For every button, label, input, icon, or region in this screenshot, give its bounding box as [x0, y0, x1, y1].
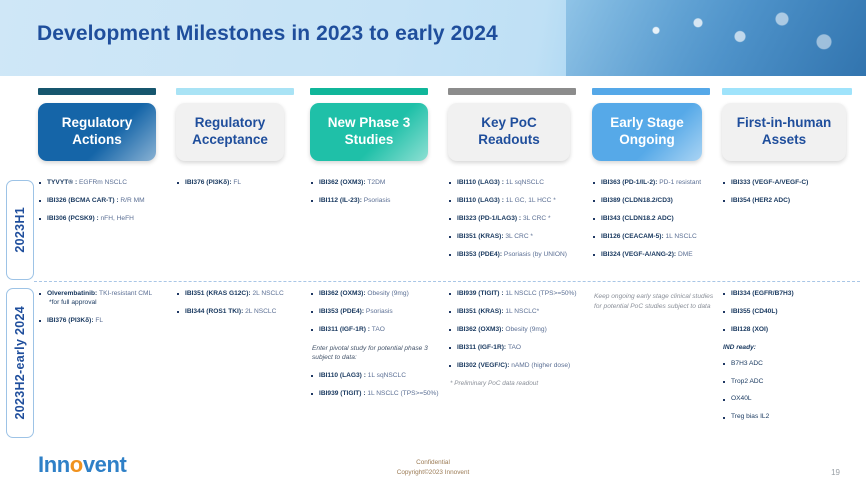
column-title-line1: Regulatory: [62, 115, 133, 132]
milestone-code: IBI351 (KRAS): [457, 233, 501, 240]
cell-2023h2-first-in-human-assets: IBI334 (EGFR/B7H3)IBI355 (CD40L)IBI128 (…: [722, 290, 860, 431]
row-label-text: 2023H2-early 2024: [13, 306, 27, 420]
milestone-item: IBI344 (ROS1 TKI): 2L NSCLC: [176, 308, 304, 317]
milestone-item: IBI353 (PDE4): Psoriasis (by UNION): [448, 251, 590, 260]
column-header-3[interactable]: Key PoCReadouts: [448, 88, 576, 161]
milestone-code: B7H3 ADC: [731, 360, 763, 367]
column-accent-bar: [310, 88, 428, 95]
milestone-indication: 1L GC, 1L HCC *: [506, 197, 556, 204]
milestone-item: IBI362 (OXM3): Obesity (9mg): [310, 290, 444, 299]
column-title-line1: Key PoC: [478, 115, 540, 132]
milestone-item: IBI351 (KRAS): 1L NSCLC*: [448, 308, 590, 317]
milestone-item: IBI351 (KRAS): 3L CRC *: [448, 233, 590, 242]
early-stage-ongoing-note: Keep ongoing early stage clinical studie…: [594, 292, 716, 311]
milestone-indication: Obesity (9mg): [505, 326, 546, 333]
milestone-indication: TKI-resistant CML: [99, 290, 152, 297]
milestone-code: IBI110 (LAG3): [319, 372, 362, 379]
milestone-indication: TAO: [372, 326, 385, 333]
milestone-item: IBI343 (CLDN18.2 ADC): [592, 215, 718, 224]
milestone-code: IBI334 (EGFR/B7H3): [731, 290, 794, 297]
milestone-indication: Psoriasis: [366, 308, 393, 315]
milestone-item: IBI376 (PI3Kδ): FL: [38, 317, 168, 326]
milestone-code: IBI324 (VEGF-A/ANG-2): [601, 251, 674, 258]
milestone-item: IBI306 (PCSK9) : nFH, HeFH: [38, 215, 166, 224]
column-accent-bar: [722, 88, 852, 95]
cell-2023h1-regulatory-actions: TYVYT® : EGFRm NSCLCIBI326 (BCMA CAR-T) …: [38, 179, 166, 233]
milestone-item: IBI302 (VEGF/C): nAMD (higher dose): [448, 362, 590, 371]
pivotal-study-note: Enter pivotal study for potential phase …: [312, 344, 444, 363]
milestone-code: IBI351 (KRAS G12C): [185, 290, 248, 297]
milestone-code: IBI389 (CLDN18.2/CD3): [601, 197, 673, 204]
column-accent-bar: [592, 88, 710, 95]
column-chip[interactable]: First-in-humanAssets: [722, 103, 846, 161]
column-title-line1: Regulatory: [192, 115, 268, 132]
column-accent-bar: [176, 88, 294, 95]
footer-copyright: Copyright©2023 Innovent: [0, 468, 866, 478]
milestone-code: IBI323 (PD-1/LAG3): [457, 215, 517, 222]
milestone-item: IBI351 (KRAS G12C): 2L NSCLC: [176, 290, 304, 299]
column-chip[interactable]: New Phase 3Studies: [310, 103, 428, 161]
milestone-code: IBI351 (KRAS): [457, 308, 501, 315]
column-title-line1: New Phase 3: [328, 115, 411, 132]
column-header-2[interactable]: New Phase 3Studies: [310, 88, 428, 161]
column-header-5[interactable]: First-in-humanAssets: [722, 88, 852, 161]
row-label-2023h2-early-2024: 2023H2-early 2024: [6, 288, 34, 438]
cell-2023h2-new-phase-3-studies: IBI362 (OXM3): Obesity (9mg)IBI353 (PDE4…: [310, 290, 444, 408]
milestone-code: IBI110 (LAG3): [457, 179, 500, 186]
milestone-item: IBI128 (XOI): [722, 326, 860, 335]
milestone-indication: 1L sqNSCLC: [368, 372, 406, 379]
milestone-code: IBI302 (VEGF/C): [457, 362, 507, 369]
milestone-item: IBI333 (VEGF-A/VEGF-C): [722, 179, 860, 188]
milestone-item: IBI939 (TIGIT) : 1L NSCLC (TPS>=50%): [448, 290, 590, 299]
milestone-item: Olverembatinib: TKI-resistant CML*for fu…: [38, 290, 168, 308]
milestone-code: TYVYT®: [47, 179, 73, 186]
milestone-item: IBI939 (TIGIT) : 1L NSCLC (TPS>=50%): [310, 390, 444, 399]
cell-2023h1-early-stage-ongoing: IBI363 (PD-1/IL-2): PD-1 resistantIBI389…: [592, 179, 718, 268]
milestone-item: IBI389 (CLDN18.2/CD3): [592, 197, 718, 206]
milestone-indication: TAO: [508, 344, 521, 351]
milestone-indication: 1L NSCLC (TPS>=50%): [505, 290, 576, 297]
milestone-item: IBI110 (LAG3) : 1L sqNSCLC: [310, 372, 444, 381]
milestone-item: IBI311 (IGF-1R) : TAO: [310, 326, 444, 335]
milestone-code: Treg bias IL2: [731, 413, 769, 420]
milestone-item: IBI362 (OXM3): T2DM: [310, 179, 440, 188]
milestone-code: IBI306 (PCSK9): [47, 215, 95, 222]
column-header-0[interactable]: RegulatoryActions: [38, 88, 156, 161]
milestone-item: IBI311 (IGF-1R): TAO: [448, 344, 590, 353]
milestone-item: IBI355 (CD40L): [722, 308, 860, 317]
milestone-indication: DME: [678, 251, 693, 258]
milestone-indication: 1L NSCLC (TPS>=50%): [367, 390, 438, 397]
milestone-indication: 2L NSCLC: [252, 290, 283, 297]
row-divider: [34, 281, 860, 282]
milestone-item: Treg bias IL2: [722, 413, 860, 422]
milestone-item: IBI363 (PD-1/IL-2): PD-1 resistant: [592, 179, 718, 188]
milestone-item: TYVYT® : EGFRm NSCLC: [38, 179, 166, 188]
cell-2023h2-early-stage-ongoing: Keep ongoing early stage clinical studie…: [592, 290, 716, 320]
milestone-item: IBI110 (LAG3) : 1L GC, 1L HCC *: [448, 197, 590, 206]
preliminary-poc-note: * Preliminary PoC data readout: [450, 379, 590, 388]
milestone-item: IBI110 (LAG3) : 1L sqNSCLC: [448, 179, 590, 188]
column-header-1[interactable]: RegulatoryAcceptance: [176, 88, 294, 161]
milestone-code: Trop2 ADC: [731, 378, 763, 385]
milestone-code: IBI362 (OXM3): [457, 326, 501, 333]
milestone-indication: Obesity (9mg): [367, 290, 408, 297]
milestone-code: IBI126 (CEACAM-5): [601, 233, 661, 240]
column-title-line2: Acceptance: [192, 132, 268, 149]
milestone-code: IBI326 (BCMA CAR-T): [47, 197, 115, 204]
milestone-code: IBI376 (PI3Kδ): [47, 317, 91, 324]
milestone-indication: nFH, HeFH: [101, 215, 134, 222]
column-chip[interactable]: Key PoCReadouts: [448, 103, 570, 161]
milestone-item: IBI354 (HER2 ADC): [722, 197, 860, 206]
milestone-indication: EGFRm NSCLC: [79, 179, 127, 186]
cell-2023h2-regulatory-acceptance: IBI351 (KRAS G12C): 2L NSCLCIBI344 (ROS1…: [176, 290, 304, 326]
milestone-indication: Psoriasis: [364, 197, 391, 204]
milestone-code: IBI353 (PDE4): [457, 251, 500, 258]
column-chip[interactable]: RegulatoryAcceptance: [176, 103, 284, 161]
milestone-code: IBI110 (LAG3): [457, 197, 500, 204]
milestone-indication: T2DM: [367, 179, 385, 186]
column-title-line1: Early Stage: [610, 115, 684, 132]
column-title-line2: Studies: [328, 132, 411, 149]
row-label-text: 2023H1: [13, 207, 27, 253]
milestone-code: IBI333 (VEGF-A/VEGF-C): [731, 179, 808, 186]
row-label-2023h1: 2023H1: [6, 180, 34, 280]
milestone-code: Olverembatinib: [47, 290, 95, 297]
milestone-code: IBI344 (ROS1 TKI): [185, 308, 241, 315]
milestone-indication: Psoriasis (by UNION): [504, 251, 567, 258]
milestone-code: IBI362 (OXM3): [319, 290, 363, 297]
cell-2023h1-first-in-human-assets: IBI333 (VEGF-A/VEGF-C)IBI354 (HER2 ADC): [722, 179, 860, 215]
milestone-code: IBI343 (CLDN18.2 ADC): [601, 215, 674, 222]
milestone-code: IBI939 (TIGIT): [457, 290, 500, 297]
milestone-item: IBI324 (VEGF-A/ANG-2): DME: [592, 251, 718, 260]
milestone-item: IBI112 (IL-23): Psoriasis: [310, 197, 440, 206]
column-header-row: RegulatoryActionsRegulatoryAcceptanceNew…: [0, 88, 866, 168]
milestone-code: IBI939 (TIGIT): [319, 390, 362, 397]
column-title-line1: First-in-human: [737, 115, 832, 132]
milestone-code: IBI362 (OXM3): [319, 179, 363, 186]
page-title: Development Milestones in 2023 to early …: [37, 22, 498, 46]
milestone-item: IBI334 (EGFR/B7H3): [722, 290, 860, 299]
cell-2023h2-regulatory-actions: Olverembatinib: TKI-resistant CML*for fu…: [38, 290, 168, 335]
milestone-item: B7H3 ADC: [722, 360, 860, 369]
milestone-indication: 1L sqNSCLC: [506, 179, 544, 186]
milestone-indication: PD-1 resistant: [659, 179, 701, 186]
column-title-line2: Ongoing: [610, 132, 684, 149]
milestone-code: IBI363 (PD-1/IL-2): [601, 179, 655, 186]
column-chip[interactable]: Early StageOngoing: [592, 103, 702, 161]
milestone-indication: 1L NSCLC: [665, 233, 696, 240]
footer-confidential-block: Confidential Copyright©2023 Innovent: [0, 458, 866, 479]
milestone-code: IBI128 (XOI): [731, 326, 768, 333]
column-chip[interactable]: RegulatoryActions: [38, 103, 156, 161]
column-title-line2: Readouts: [478, 132, 540, 149]
column-title-line2: Assets: [737, 132, 832, 149]
column-title-line2: Actions: [62, 132, 133, 149]
cell-2023h2-key-poc-readouts: IBI939 (TIGIT) : 1L NSCLC (TPS>=50%)IBI3…: [448, 290, 590, 398]
milestone-indication: 3L CRC *: [505, 233, 533, 240]
column-header-4[interactable]: Early StageOngoing: [592, 88, 710, 161]
cell-2023h1-regulatory-acceptance: IBI376 (PI3Kδ): FL: [176, 179, 304, 197]
milestone-code: IBI311 (IGF-1R): [457, 344, 504, 351]
milestone-code: OX40L: [731, 395, 752, 402]
milestone-indication: FL: [95, 317, 103, 324]
milestone-indication: 2L NSCLC: [245, 308, 276, 315]
cell-2023h1-new-phase-3-studies: IBI362 (OXM3): T2DMIBI112 (IL-23): Psori…: [310, 179, 440, 215]
milestone-indication: R/R MM: [120, 197, 144, 204]
column-accent-bar: [38, 88, 156, 95]
milestone-item: IBI376 (PI3Kδ): FL: [176, 179, 304, 188]
page-number: 19: [831, 468, 840, 477]
milestone-code: IBI354 (HER2 ADC): [731, 197, 790, 204]
milestone-item: Trop2 ADC: [722, 378, 860, 387]
milestone-code: IBI355 (CD40L): [731, 308, 778, 315]
milestone-code: IBI112 (IL-23): [319, 197, 360, 204]
milestone-item: OX40L: [722, 395, 860, 404]
milestone-indication: nAMD (higher dose): [511, 362, 570, 369]
milestone-code: IBI376 (PI3Kδ): [185, 179, 229, 186]
milestone-code: IBI311 (IGF-1R): [319, 326, 366, 333]
slide-header-banner: Development Milestones in 2023 to early …: [0, 0, 866, 76]
milestone-code: IBI353 (PDE4): [319, 308, 362, 315]
footer-confidential: Confidential: [0, 458, 866, 468]
cell-2023h1-key-poc-readouts: IBI110 (LAG3) : 1L sqNSCLCIBI110 (LAG3) …: [448, 179, 590, 268]
milestone-indication: 1L NSCLC*: [505, 308, 539, 315]
column-accent-bar: [448, 88, 576, 95]
milestone-item: IBI323 (PD-1/LAG3) : 3L CRC *: [448, 215, 590, 224]
milestone-item: IBI126 (CEACAM-5): 1L NSCLC: [592, 233, 718, 242]
milestone-subnote: *for full approval: [47, 299, 168, 308]
milestone-item: IBI362 (OXM3): Obesity (9mg): [448, 326, 590, 335]
milestone-item: IBI326 (BCMA CAR-T) : R/R MM: [38, 197, 166, 206]
milestone-item: IBI353 (PDE4): Psoriasis: [310, 308, 444, 317]
milestone-indication: 3L CRC *: [523, 215, 551, 222]
ind-ready-label: IND ready:: [723, 344, 860, 351]
milestone-indication: FL: [233, 179, 241, 186]
